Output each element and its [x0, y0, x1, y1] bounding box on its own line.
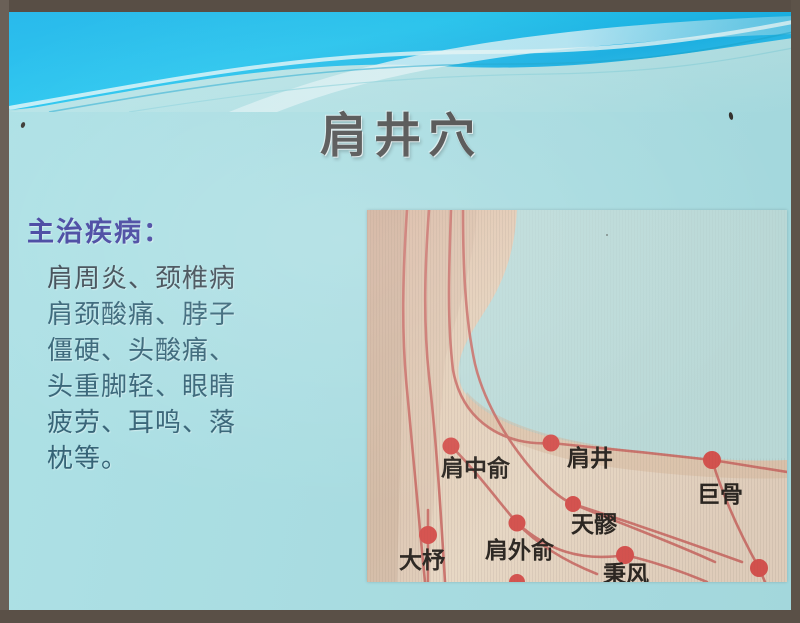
wall-border-left — [0, 0, 9, 623]
indication-line: 肩颈酸痛、脖子 — [47, 297, 351, 333]
indication-line: 僵硬、头酸痛、 — [47, 333, 351, 369]
screen-speck — [606, 234, 608, 236]
wall-border-bottom — [0, 610, 800, 623]
subject-heading: 主治疾病： — [27, 210, 351, 249]
indication-text-block: 主治疾病： 肩周炎、颈椎病 肩颈酸痛、脖子 僵硬、头酸痛、 头重脚轻、眼睛 疲劳… — [21, 210, 351, 477]
indication-list: 肩周炎、颈椎病 肩颈酸痛、脖子 僵硬、头酸痛、 头重脚轻、眼睛 疲劳、耳鸣、落 … — [21, 261, 351, 477]
indication-line: 枕等。 — [47, 441, 351, 477]
indication-line: 头重脚轻、眼睛 — [47, 369, 351, 405]
presentation-slide: 肩井穴 主治疾病： 肩周炎、颈椎病 肩颈酸痛、脖子 僵硬、头酸痛、 头重脚轻、眼… — [9, 12, 793, 610]
wall-border-right — [791, 0, 800, 623]
indication-line: 肩周炎、颈椎病 — [47, 261, 351, 297]
wall-border-top — [0, 0, 800, 12]
slide-title: 肩井穴 — [9, 97, 793, 166]
acupoint-diagram-svg: 肩井 肩中俞 天髎 肩外俞 大杼 巨骨 秉风 — [367, 210, 787, 582]
acupoint-diagram-image: 肩井 肩中俞 天髎 肩外俞 大杼 巨骨 秉风 — [367, 210, 787, 582]
indication-line: 疲劳、耳鸣、落 — [47, 405, 351, 441]
slide-title-text: 肩井穴 — [320, 97, 482, 166]
